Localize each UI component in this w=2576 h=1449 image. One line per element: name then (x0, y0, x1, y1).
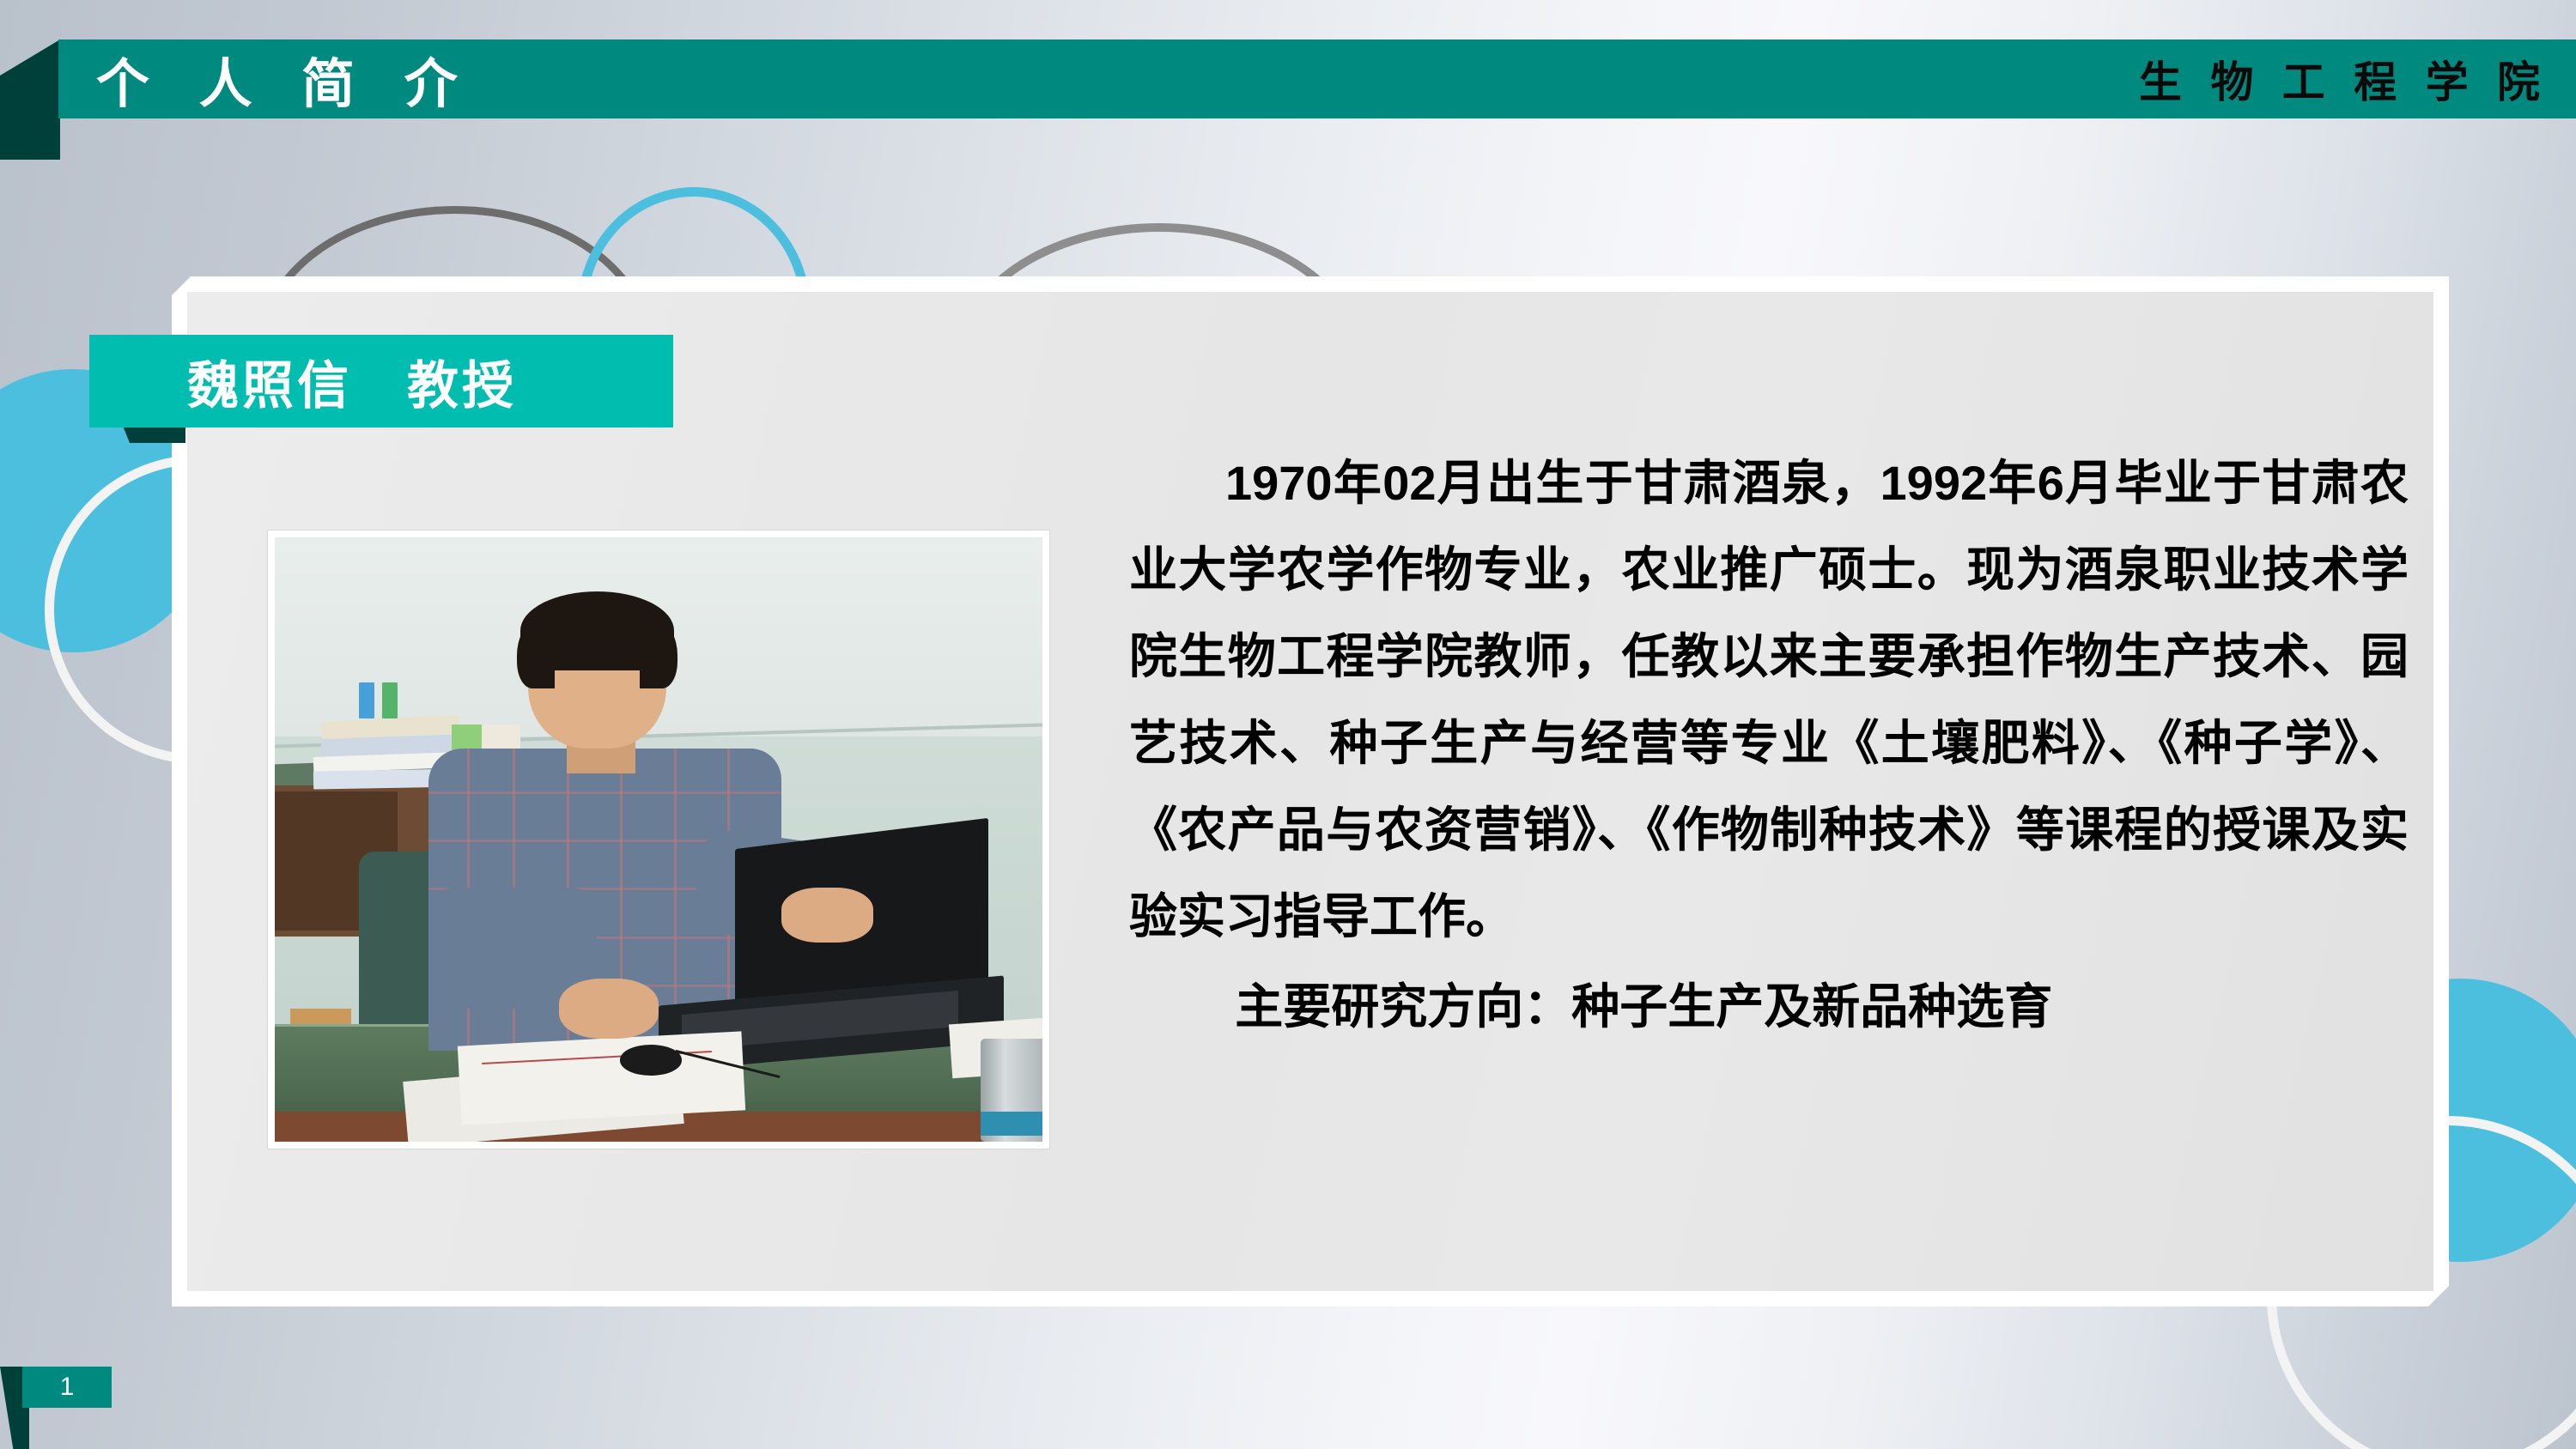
profile-photo (275, 537, 1042, 1142)
name-banner: 魏照信 教授 (89, 335, 673, 427)
biography-paragraph-main: 1970年02月出生于甘肃酒泉，1992年6月毕业于甘肃农业大学农学作物专业，农… (1129, 440, 2409, 960)
biography-text: 1970年02月出生于甘肃酒泉，1992年6月毕业于甘肃农业大学农学作物专业，农… (1129, 440, 2409, 1050)
header-shadow (0, 39, 60, 160)
page-number: 1 (60, 1373, 75, 1402)
page-number-badge: 1 (22, 1367, 112, 1408)
slide-canvas: 个 人 简 介 生 物 工 程 学 院 魏照信 教授 (0, 0, 2576, 1449)
organization-name: 生 物 工 程 学 院 (2139, 48, 2547, 110)
page-title: 个 人 简 介 (96, 40, 473, 118)
person-name-title: 魏照信 教授 (187, 344, 517, 419)
header-bar: 个 人 简 介 生 物 工 程 学 院 (58, 39, 2576, 118)
research-direction-paragraph: 主要研究方向：种子生产及新品种选育 (1129, 963, 2409, 1050)
profile-photo-frame (268, 530, 1049, 1149)
